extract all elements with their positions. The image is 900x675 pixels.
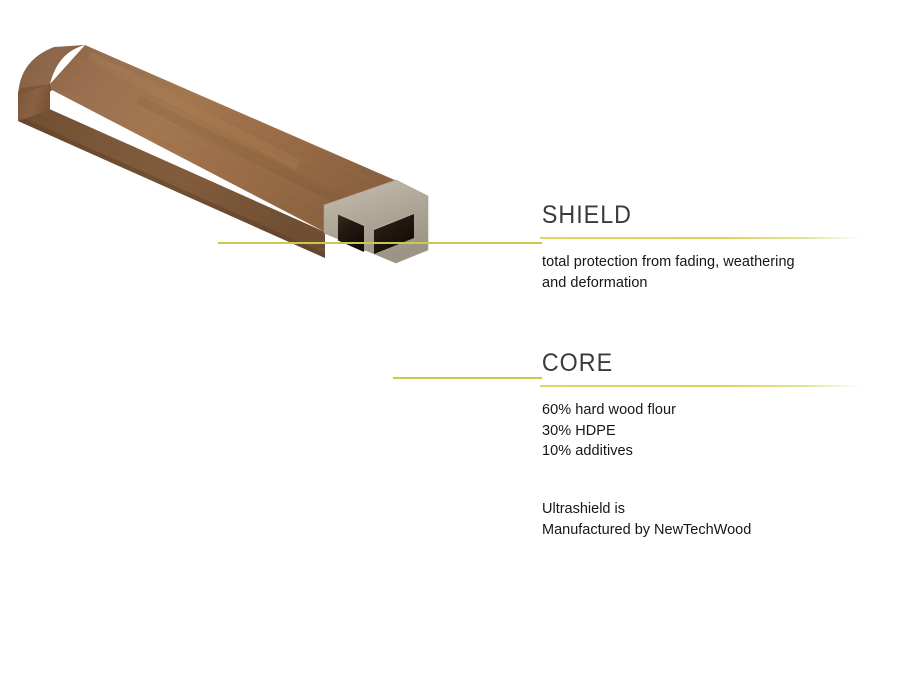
leader-line-shield [218,242,542,244]
callout-shield: SHIELD total protection from fading, wea… [540,200,870,293]
callout-core-line-1: 60% hard wood flour [542,400,870,421]
composite-board-illustration [0,0,520,500]
manufacturer-note-line-2: Manufactured by NewTechWood [542,520,882,541]
callout-core-rule [540,385,862,387]
diagram-canvas: SHIELD total protection from fading, wea… [0,0,900,675]
manufacturer-note-line-1: Ultrashield is [542,499,882,520]
callout-core-line-3: 10% additives [542,441,870,462]
leader-line-core [393,377,542,379]
callout-core: CORE 60% hard wood flour 30% HDPE 10% ad… [540,348,870,462]
callout-shield-line-1: total protection from fading, weathering [542,252,870,273]
callout-shield-rule [540,237,862,239]
callout-column: SHIELD total protection from fading, wea… [540,200,870,462]
callout-core-heading: CORE [540,348,847,385]
callout-core-body: 60% hard wood flour 30% HDPE 10% additiv… [540,400,870,462]
callout-shield-body: total protection from fading, weathering… [540,252,870,293]
callout-core-line-2: 30% HDPE [542,421,870,442]
callout-shield-heading: SHIELD [540,200,847,237]
manufacturer-note: Ultrashield is Manufactured by NewTechWo… [540,499,882,541]
callout-shield-line-2: and deformation [542,273,870,294]
